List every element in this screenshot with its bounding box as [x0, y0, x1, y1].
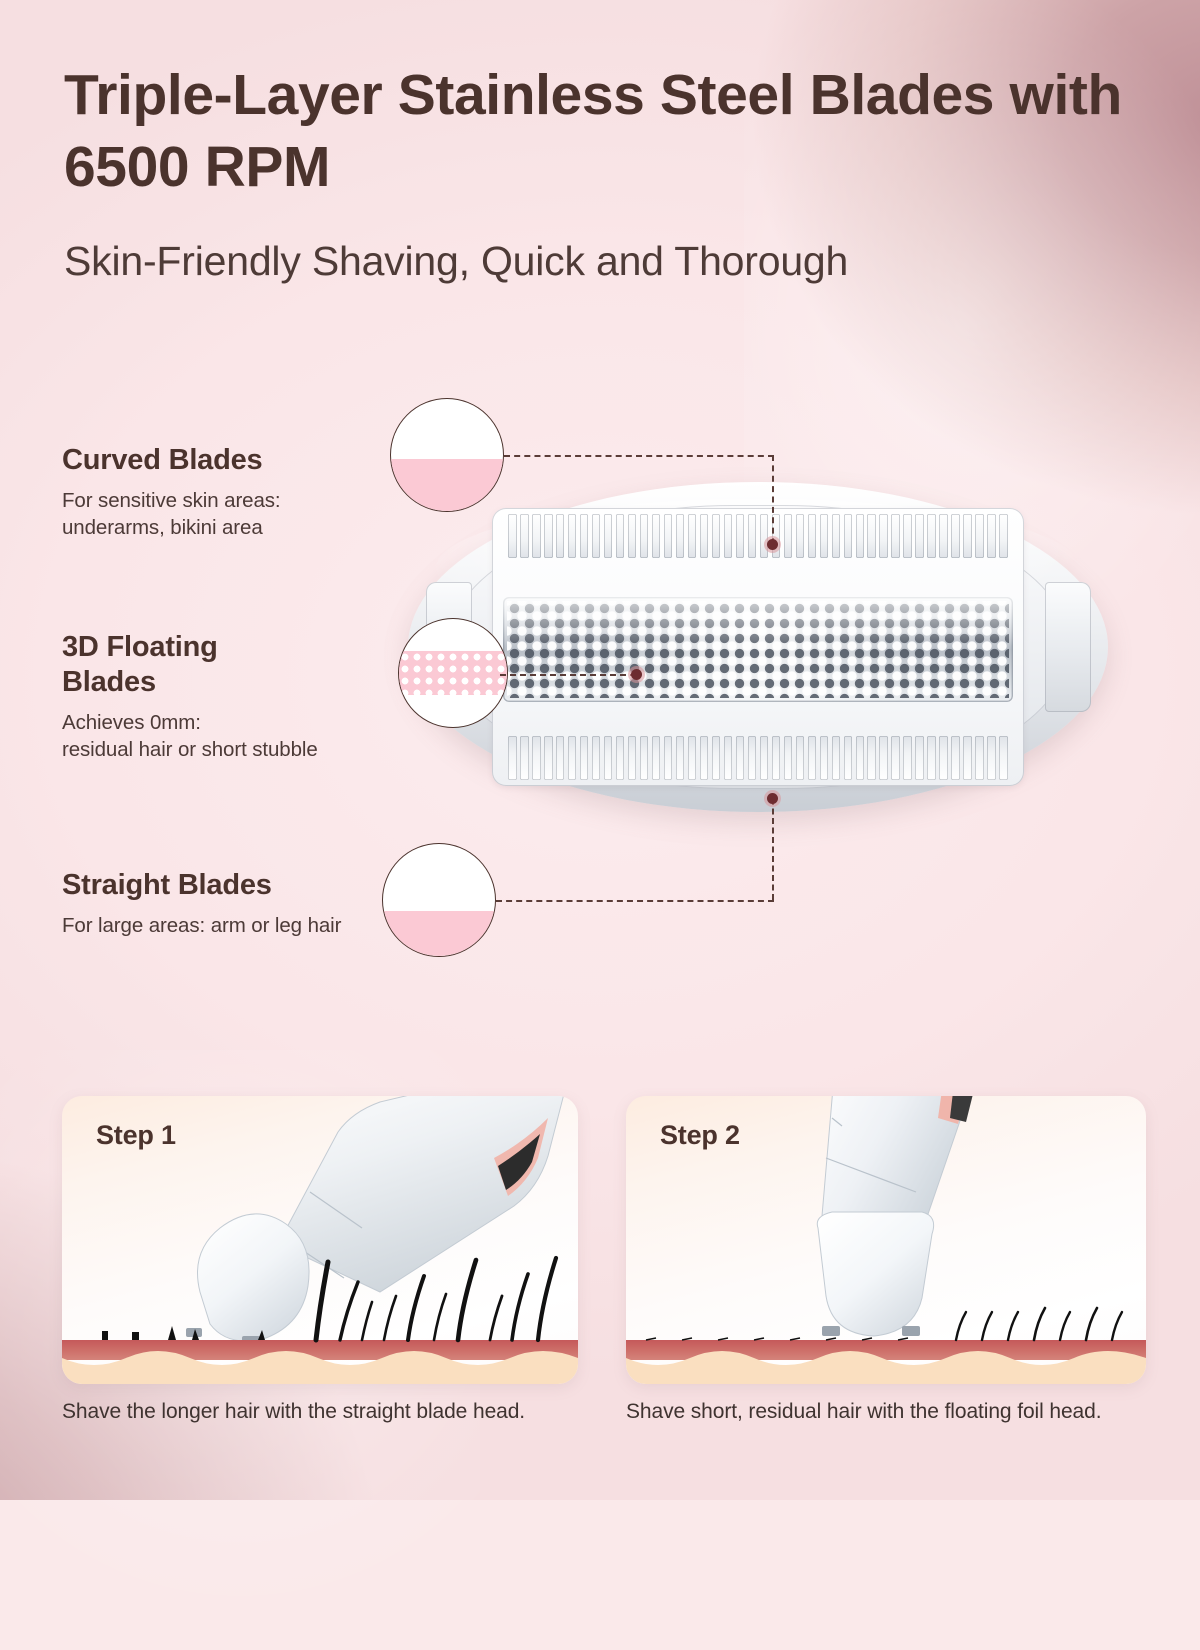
feature-title: Straight Blades [62, 868, 402, 903]
feature-description: For sensitive skin areas: underarms, bik… [62, 487, 392, 542]
feature-floating-blades: 3D Floating Blades Achieves 0mm: residua… [62, 630, 392, 763]
feature-title: Curved Blades [62, 443, 392, 478]
page-title: Triple-Layer Stainless Steel Blades with… [64, 60, 1134, 204]
comb-teeth-icon [391, 433, 503, 459]
step-1-panel: Step 1 [62, 1096, 578, 1384]
straight-blade-comb [508, 736, 1008, 780]
step-2-panel: Step 2 [626, 1096, 1146, 1384]
foil-gloss [503, 597, 1014, 645]
feature-curved-blades: Curved Blades For sensitive skin areas: … [62, 443, 392, 541]
step-2-illustration [626, 1096, 1146, 1384]
step-2-caption: Shave short, residual hair with the floa… [626, 1400, 1166, 1424]
step-1-illustration [62, 1096, 578, 1384]
floating-foil-mesh [503, 597, 1014, 702]
callout-curved-blades [390, 398, 504, 512]
shaver-cassette [492, 508, 1024, 785]
shaver-head-illustration [408, 482, 1108, 812]
hotspot-curved [767, 539, 778, 550]
feature-straight-blades: Straight Blades For large areas: arm or … [62, 868, 402, 939]
hotspot-floating [631, 669, 642, 680]
step-1-caption: Shave the longer hair with the straight … [62, 1400, 592, 1424]
feature-title: 3D Floating Blades [62, 630, 392, 700]
shaver-right-clip [1045, 582, 1091, 712]
callout-floating-blades [398, 618, 508, 728]
curved-blade-comb [508, 514, 1008, 558]
perforated-foil-icon [399, 651, 507, 694]
infographic-stage: Triple-Layer Stainless Steel Blades with… [0, 0, 1200, 1500]
page-subtitle: Skin-Friendly Shaving, Quick and Thoroug… [64, 236, 1134, 287]
hotspot-straight [767, 793, 778, 804]
feature-description: Achieves 0mm: residual hair or short stu… [62, 709, 392, 764]
feature-description: For large areas: arm or leg hair [62, 912, 402, 939]
